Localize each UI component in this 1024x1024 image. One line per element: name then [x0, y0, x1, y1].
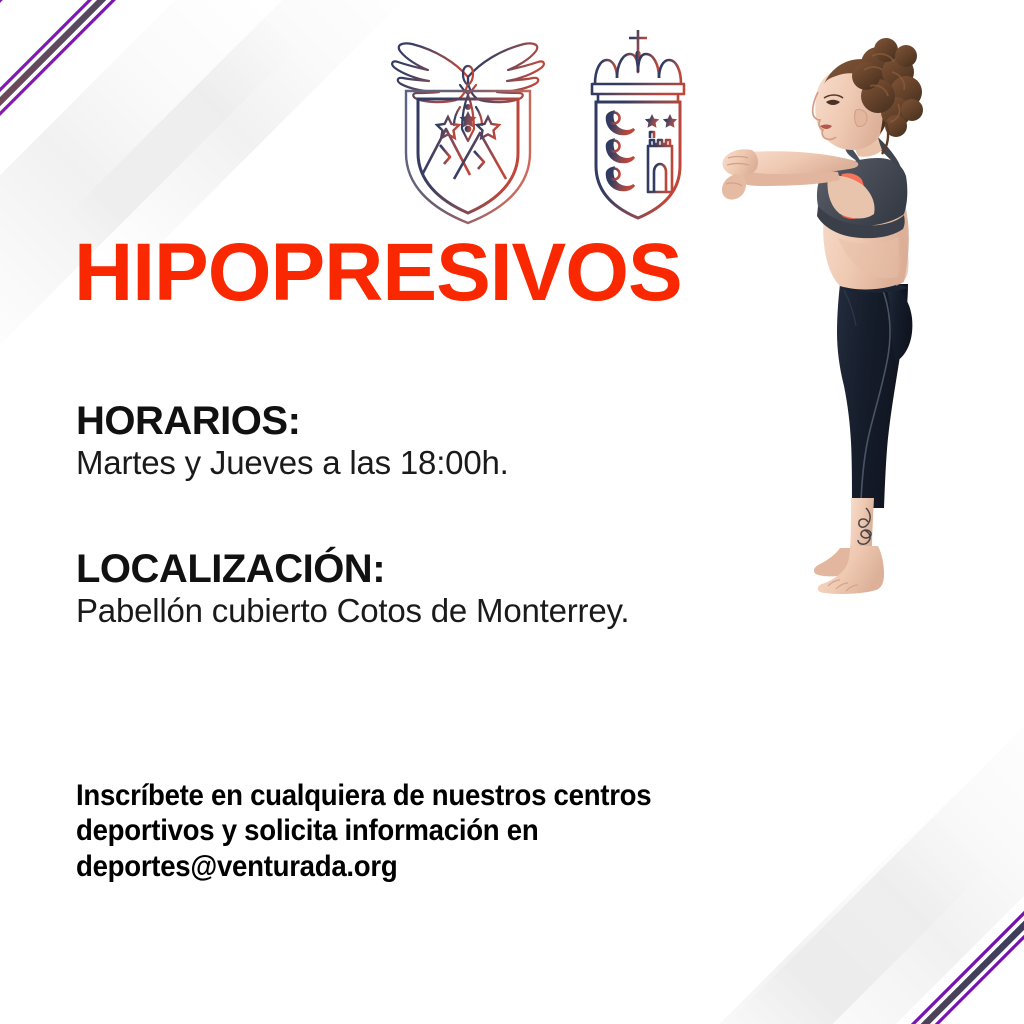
stars-icon [437, 104, 499, 138]
front-hand [723, 149, 759, 176]
ear [855, 109, 867, 126]
cross-icon [629, 30, 647, 52]
lower-hand [722, 174, 746, 200]
section-localizacion-heading: LOCALIZACIÓN: [76, 548, 629, 590]
footer-line-1: Inscríbete en cualquiera de nuestros cen… [76, 778, 775, 813]
section-horarios-body: Martes y Jueves a las 18:00h. [76, 442, 509, 483]
footer-email[interactable]: deportes@venturada.org [76, 849, 775, 884]
woman-exercising-photo [700, 26, 1024, 602]
poster-canvas: HIPOPRESIVOS HORARIOS: Martes y Jueves a… [0, 0, 1024, 1024]
ankles [850, 498, 874, 550]
section-horarios: HORARIOS: Martes y Jueves a las 18:00h. [76, 400, 509, 483]
section-localizacion-body: Pabellón cubierto Cotos de Monterrey. [76, 590, 629, 631]
section-localizacion: LOCALIZACIÓN: Pabellón cubierto Cotos de… [76, 548, 629, 631]
venturada-coat-of-arms-logo [578, 26, 698, 222]
crescents-icon [607, 112, 634, 190]
crown-icon [592, 52, 684, 102]
page-title: HIPOPRESIVOS [74, 232, 682, 314]
eagle-shield-crest-logo [384, 33, 552, 225]
section-horarios-heading: HORARIOS: [76, 400, 509, 442]
stars-castle-icon [645, 114, 677, 192]
footer-call-to-action: Inscríbete en cualquiera de nuestros cen… [76, 778, 775, 884]
footer-line-2: deportivos y solicita información en [76, 813, 775, 848]
